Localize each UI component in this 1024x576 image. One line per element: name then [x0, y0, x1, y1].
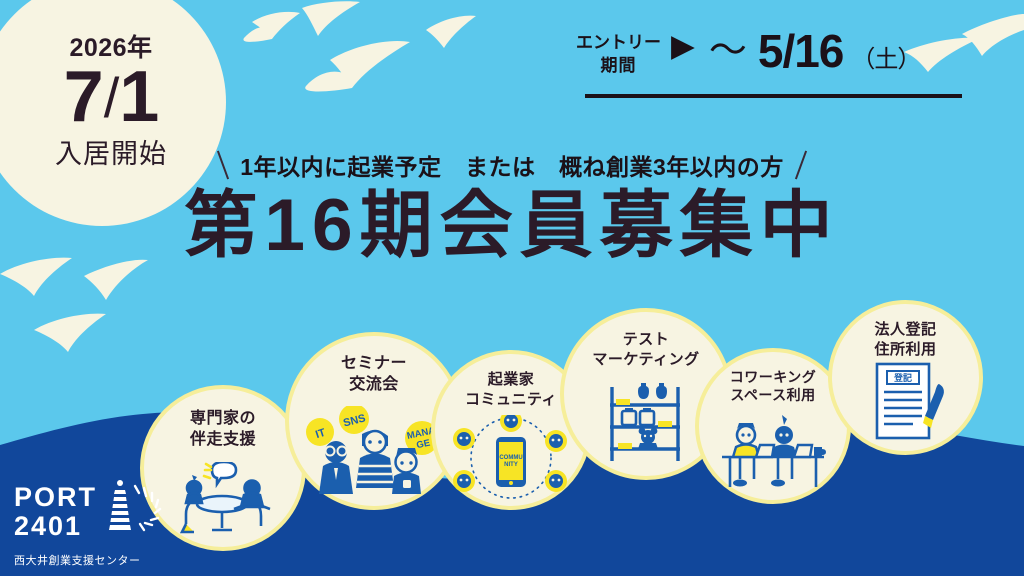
move-in-month: 7 [64, 57, 103, 137]
feature-bubble-registration[interactable]: 法人登記 住所利用 登記 [828, 300, 983, 455]
document-stamp-label: 登記 [892, 372, 911, 383]
promo-banner: 2026年 7/1 入居開始 エントリー 期間 ▶ 〜5/16（土） 1年以内に… [0, 0, 1024, 576]
port2401-logo[interactable]: PORT 2401 [14, 478, 169, 568]
coworker-left [733, 423, 759, 487]
logo-tagline: 西大井創業支援センター [14, 552, 169, 568]
move-in-caption: 入居開始 [55, 141, 167, 168]
slash-decoration-right [795, 151, 807, 180]
lead-text: 1年以内に起業予定 または 概ね創業3年以内の方 [240, 148, 784, 182]
bubble-title: 法人登記 住所利用 [874, 320, 936, 359]
move-in-date: 7/1 [64, 61, 159, 134]
entry-label-line2: 期間 [601, 55, 637, 78]
bubble-title: 起業家 コミュニティ [465, 370, 557, 409]
bubble-title: コワーキング スペース利用 [730, 368, 817, 404]
bubble-title: テスト マーケティング [592, 330, 699, 369]
lighthouse-icon [103, 478, 169, 545]
slash-decoration-left [217, 151, 229, 180]
phone-screen [499, 442, 523, 480]
logo-wordmark: PORT 2401 [14, 483, 97, 540]
entry-deadline: 〜5/16（土） [709, 28, 921, 74]
logo-line1: PORT [14, 483, 97, 512]
logo-row: PORT 2401 [14, 478, 169, 545]
entry-period-label: エントリー 期間 [576, 28, 661, 78]
entry-underline [585, 94, 962, 98]
tilde-symbol: 〜 [709, 32, 746, 70]
coffee-cup-icon [814, 447, 826, 458]
entry-period-block: エントリー 期間 ▶ 〜5/16（土） [576, 28, 920, 78]
coworker-right [771, 415, 797, 487]
phone-label-line2: NITY [504, 462, 518, 468]
logo-line2: 2401 [14, 512, 97, 541]
coworking-illustration [699, 404, 847, 500]
date-separator: / [103, 66, 120, 129]
entry-deadline-date: 5/16 [758, 28, 844, 74]
entry-deadline-dow: （土） [851, 48, 920, 72]
move-in-day: 1 [119, 57, 158, 137]
bubble-title: セミナー 交流会 [341, 354, 407, 396]
play-arrow-icon: ▶ [671, 30, 695, 61]
bubble-title: 専門家の 伴走支援 [190, 409, 256, 451]
entry-label-line1: エントリー [576, 32, 661, 55]
document-illustration: 登記 [832, 359, 979, 451]
phone-label-line1: COMMU [499, 455, 522, 461]
